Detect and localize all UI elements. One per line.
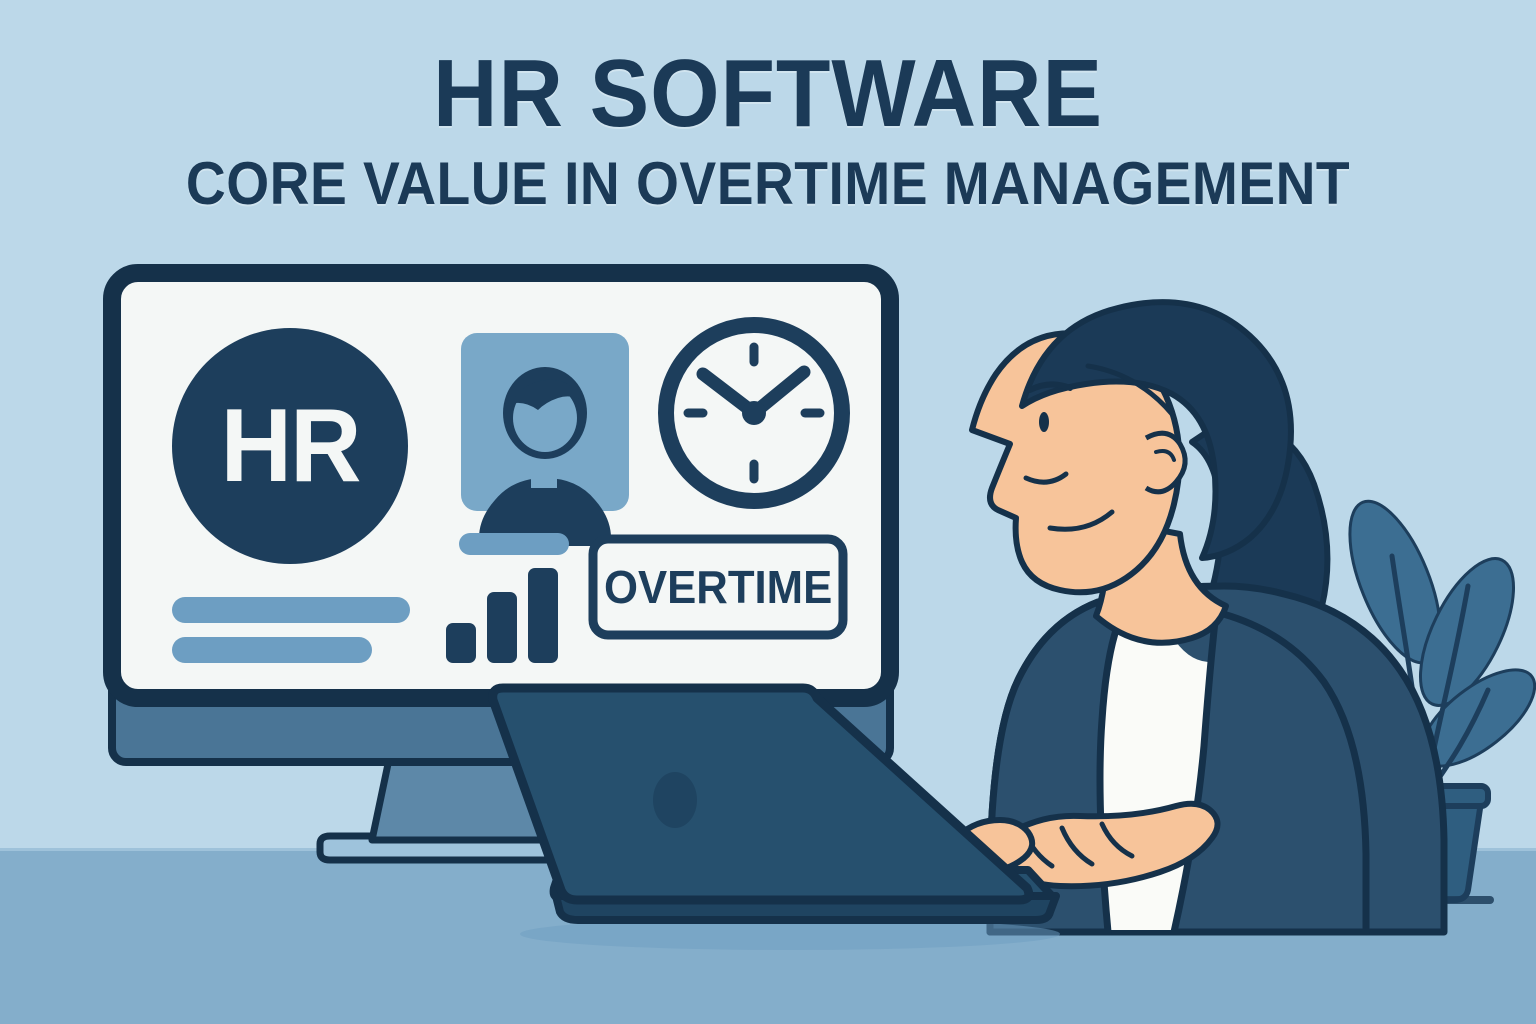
wall-clock <box>666 325 842 501</box>
overtime-button[interactable] <box>593 539 843 635</box>
scene-layer <box>0 0 1536 1024</box>
eye <box>1039 412 1049 432</box>
monitor-screen-content <box>122 283 875 688</box>
chart-bar <box>528 568 558 663</box>
avatar-neck <box>531 468 557 488</box>
chart-bar <box>446 623 476 663</box>
chart-label-pill <box>459 533 569 555</box>
chart-bar <box>487 592 517 663</box>
clock-center-pin <box>742 401 766 425</box>
hr-badge-circle <box>172 328 408 564</box>
text-placeholder-bar <box>172 637 372 663</box>
laptop-logo <box>653 772 697 828</box>
text-placeholder-bar <box>172 597 410 623</box>
illustration-canvas: HR SOFTWARE CORE VALUE IN OVERTIME MANAG… <box>0 0 1536 1024</box>
employee-avatar-card <box>461 333 629 546</box>
